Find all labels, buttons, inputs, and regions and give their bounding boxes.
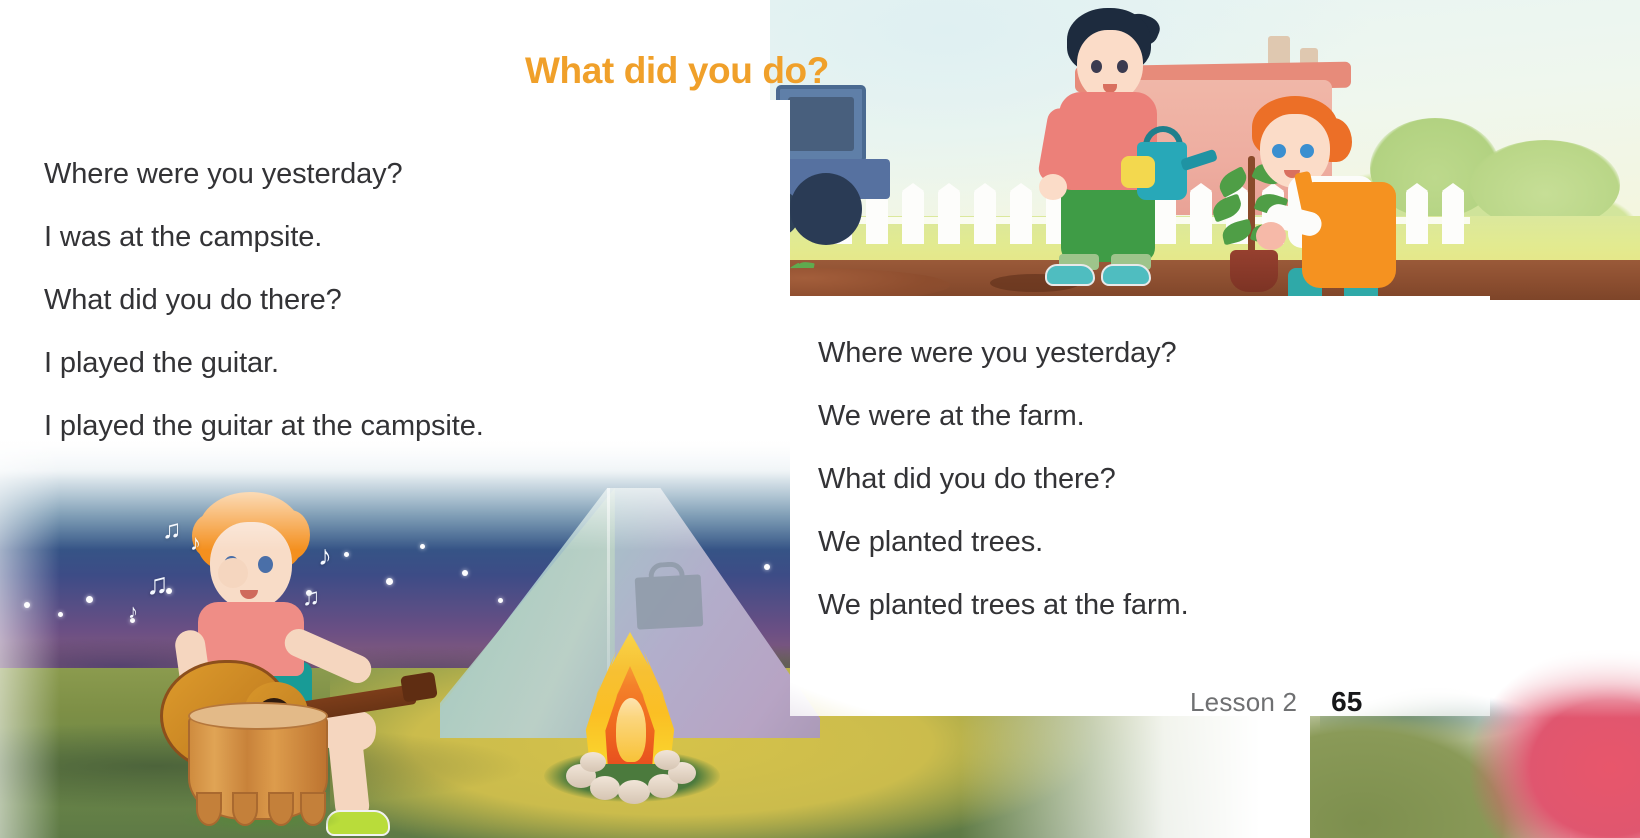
stump-root <box>268 792 294 826</box>
eye <box>1117 60 1128 73</box>
dialog-line: We planted trees. <box>818 511 1438 574</box>
hand <box>218 558 248 588</box>
sapling-leaf <box>1215 166 1251 198</box>
stump-root <box>196 792 222 826</box>
fence-picket <box>974 190 996 244</box>
textbook-page: ♫ ♪ ♫ ♪ ♫ ♪ What did you do? Where were … <box>0 0 1640 838</box>
dialog-line: We were at the farm. <box>818 385 1438 448</box>
eye <box>1300 144 1314 158</box>
stone <box>618 780 650 804</box>
hand <box>1256 222 1286 250</box>
eye <box>1091 60 1102 73</box>
dialog-line: I played the guitar. <box>44 332 744 395</box>
eye <box>1272 144 1286 158</box>
sapling-leaf <box>1209 193 1244 222</box>
farm-illustration <box>770 0 1640 300</box>
dialog-line: Where were you yesterday? <box>44 143 744 206</box>
shoe <box>1045 264 1095 286</box>
music-note-icon: ♪ <box>128 602 138 622</box>
farm-dialog: Where were you yesterday? We were at the… <box>818 322 1438 637</box>
music-note-icon: ♫ <box>302 586 320 610</box>
lesson-label: Lesson 2 <box>1190 687 1297 718</box>
star-icon <box>86 596 93 603</box>
stone <box>580 752 606 772</box>
page-number: 65 <box>1331 686 1362 718</box>
dialog-line: We planted trees at the farm. <box>818 574 1438 637</box>
stump-root <box>232 792 258 826</box>
blue-tractor <box>770 85 960 215</box>
music-note-icon: ♫ <box>146 570 169 600</box>
dialog-line: What did you do there? <box>44 269 744 332</box>
eye <box>258 556 273 573</box>
tractor-wheel <box>790 173 862 245</box>
stone <box>654 750 680 770</box>
shoe <box>1101 264 1151 286</box>
dialog-line: I played the guitar at the campsite. <box>44 395 744 458</box>
tree-stump-seat <box>180 702 340 830</box>
girl-with-watering-can <box>1025 8 1225 288</box>
stump-top <box>188 702 328 730</box>
dialog-line: Where were you yesterday? <box>818 322 1438 385</box>
stump-body <box>188 716 328 820</box>
guitar-headstock <box>400 672 438 703</box>
boy-planting-sapling <box>1240 96 1460 296</box>
dialog-line: I was at the campsite. <box>44 206 744 269</box>
fire-ring-stones <box>560 748 702 804</box>
dialog-line: What did you do there? <box>818 448 1438 511</box>
orange-overalls <box>1302 182 1396 288</box>
campfire <box>560 632 700 802</box>
hand <box>1039 174 1067 200</box>
stone <box>590 776 620 800</box>
page-footer: Lesson 2 65 <box>1190 686 1362 718</box>
root-ball <box>1230 250 1278 292</box>
campsite-dialog: Where were you yesterday? I was at the c… <box>44 143 744 458</box>
tent-window <box>635 574 704 629</box>
left-fade-overlay <box>0 440 60 838</box>
stump-root <box>300 792 326 826</box>
yellow-glove <box>1121 156 1155 188</box>
page-title: What did you do? <box>525 50 829 92</box>
